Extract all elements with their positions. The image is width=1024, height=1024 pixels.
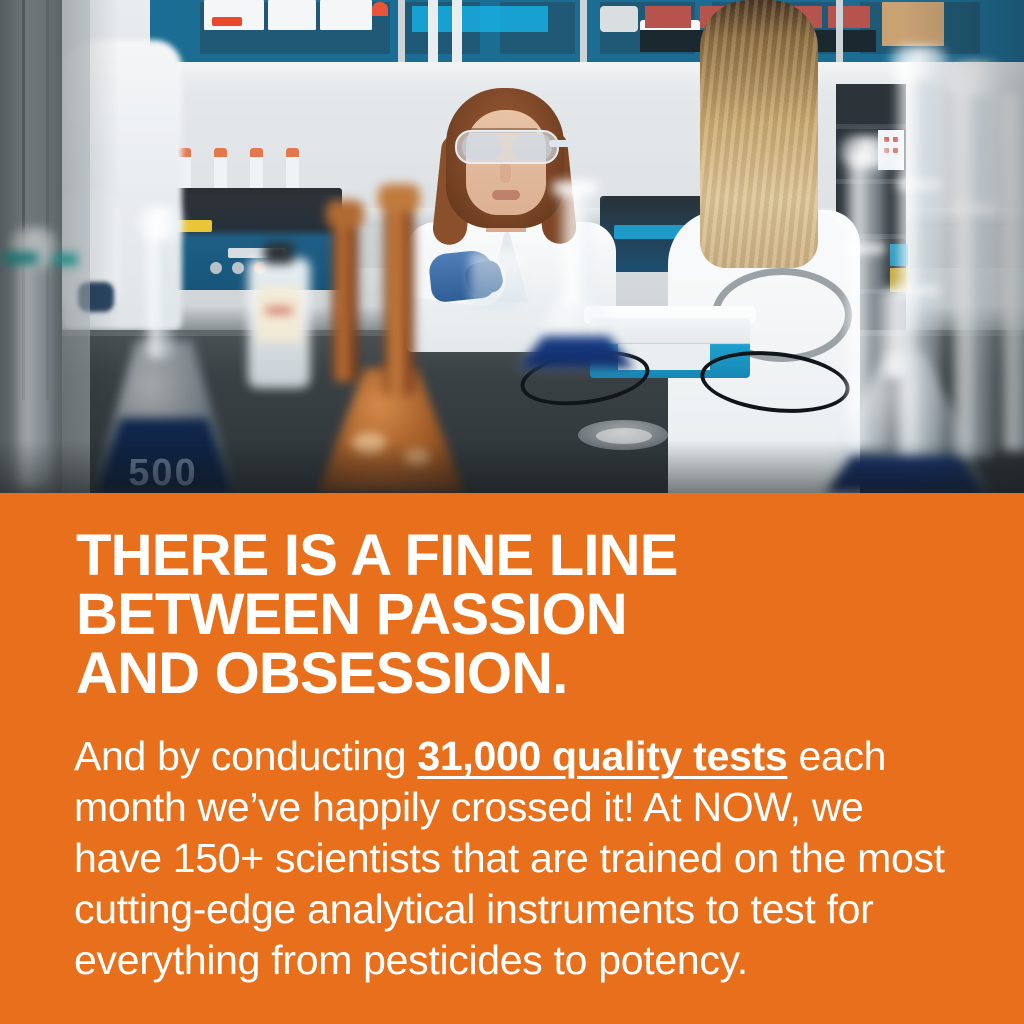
body-emphasis: 31,000 quality tests xyxy=(417,733,787,779)
amber-flask-stopper xyxy=(326,200,364,228)
amber-flask-neck xyxy=(384,196,414,396)
photo-vignette-left xyxy=(0,0,120,493)
headline: THERE IS A FINE LINE BETWEEN PASSION AND… xyxy=(76,526,996,703)
erlenmeyer-flask-lip xyxy=(552,180,598,196)
amber-flask-neck xyxy=(332,212,358,382)
wash-bottle-label xyxy=(256,286,302,342)
erlenmeyer-flask-neck xyxy=(560,186,590,306)
photo-vignette-right xyxy=(904,0,1024,493)
body-paragraph: And by conducting 31,000 quality tests e… xyxy=(74,731,954,986)
headline-line-2: BETWEEN PASSION xyxy=(76,585,996,644)
amber-flask-stopper xyxy=(378,184,420,212)
orange-message-panel: THERE IS A FINE LINE BETWEEN PASSION AND… xyxy=(0,493,1024,1024)
volumetric-flask-500-stopper xyxy=(138,206,182,240)
photo-vignette-bottom xyxy=(0,440,1024,493)
body-part-1: And by conducting xyxy=(74,733,417,779)
headline-line-1: THERE IS A FINE LINE xyxy=(76,526,996,585)
laboratory-photo: 500 xyxy=(0,0,1024,493)
promotional-poster: 500 THERE IS A FINE LINE BETWEEN PASSION… xyxy=(0,0,1024,1024)
headline-line-3: AND OBSESSION. xyxy=(76,644,996,703)
graduated-cylinder-top xyxy=(840,136,892,168)
small-beaker xyxy=(470,252,522,308)
wash-bottle-cap xyxy=(264,242,294,264)
foreground-glassware-group xyxy=(0,0,1024,493)
